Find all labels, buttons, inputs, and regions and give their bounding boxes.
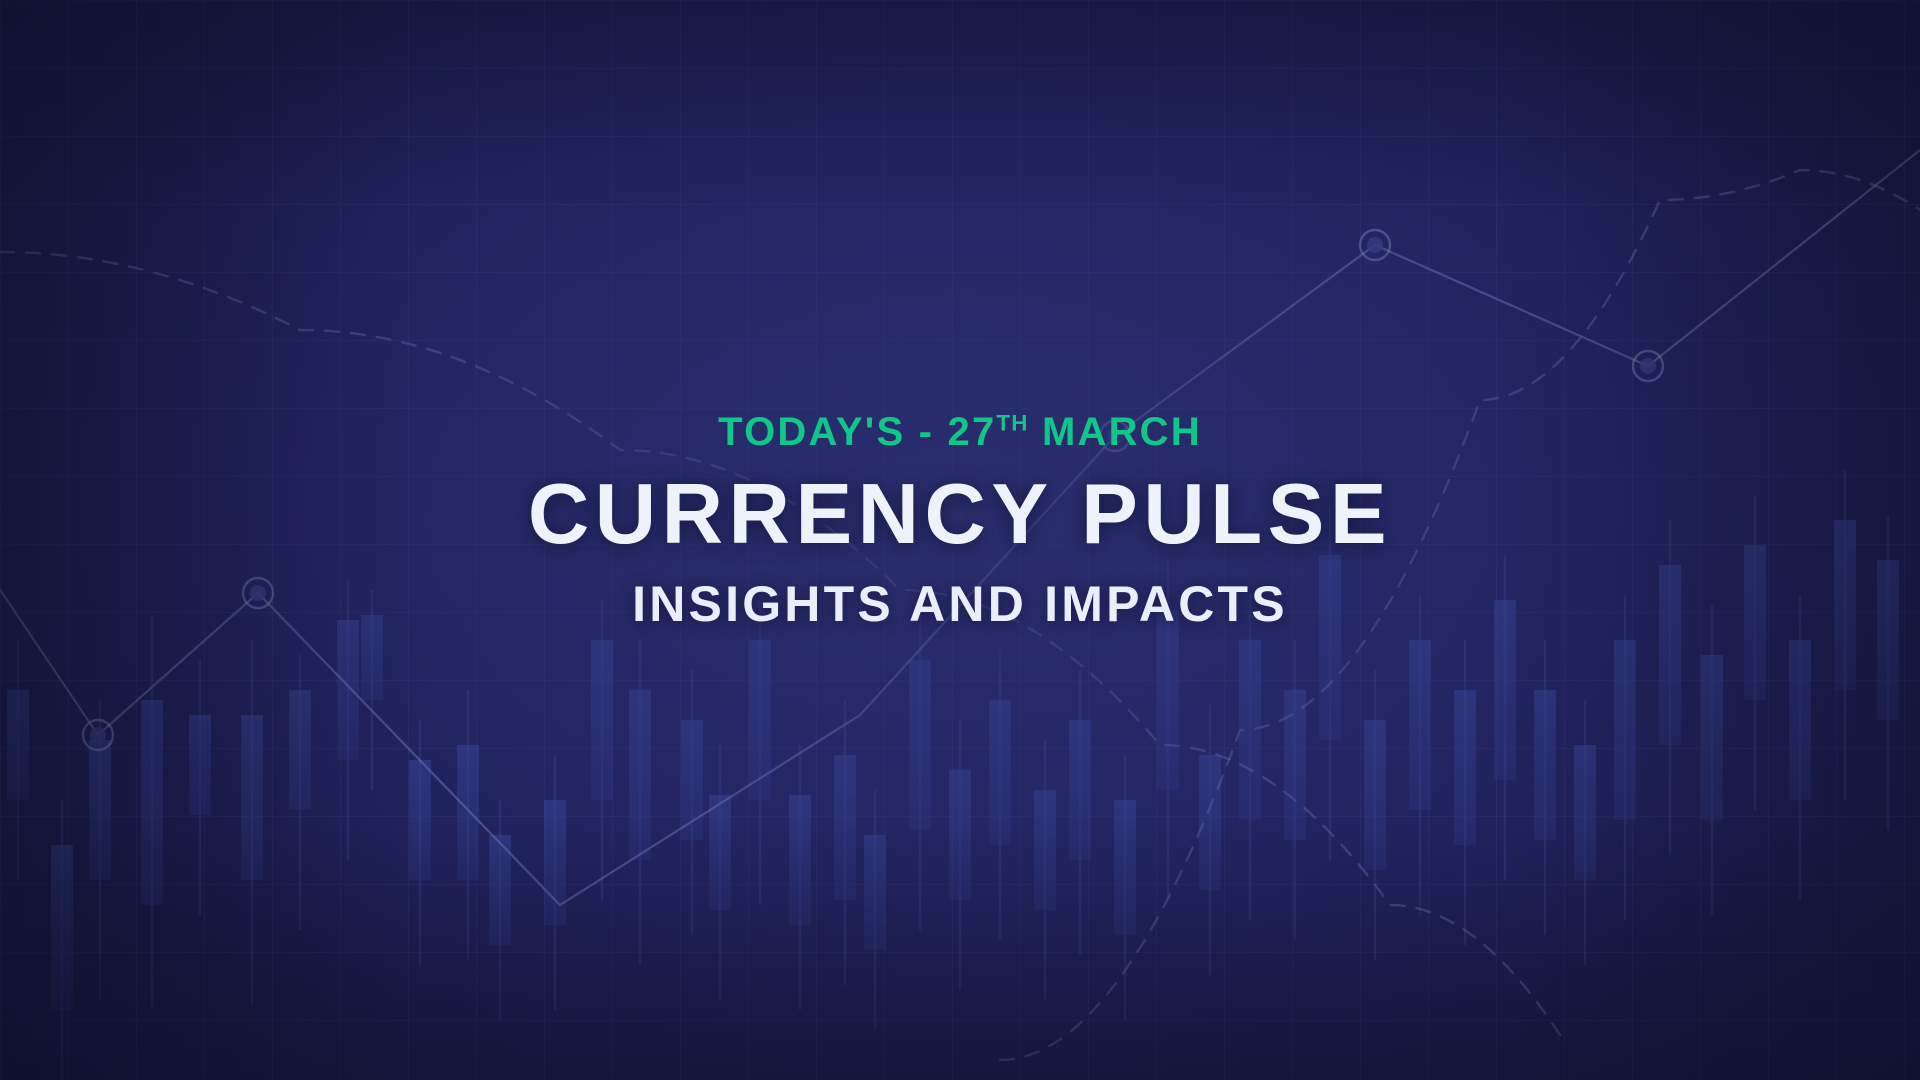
date-eyebrow: TODAY'S - 27TH MARCH (718, 412, 1202, 452)
eyebrow-month: MARCH (1029, 410, 1202, 454)
page-title: CURRENCY PULSE (528, 472, 1392, 557)
banner-content: TODAY'S - 27TH MARCH CURRENCY PULSE INSI… (0, 0, 1920, 1080)
page-subtitle: INSIGHTS AND IMPACTS (632, 579, 1288, 629)
eyebrow-prefix: TODAY'S - 27 (718, 410, 996, 454)
currency-pulse-banner: TODAY'S - 27TH MARCH CURRENCY PULSE INSI… (0, 0, 1920, 1080)
eyebrow-ordinal-suffix: TH (996, 411, 1028, 436)
